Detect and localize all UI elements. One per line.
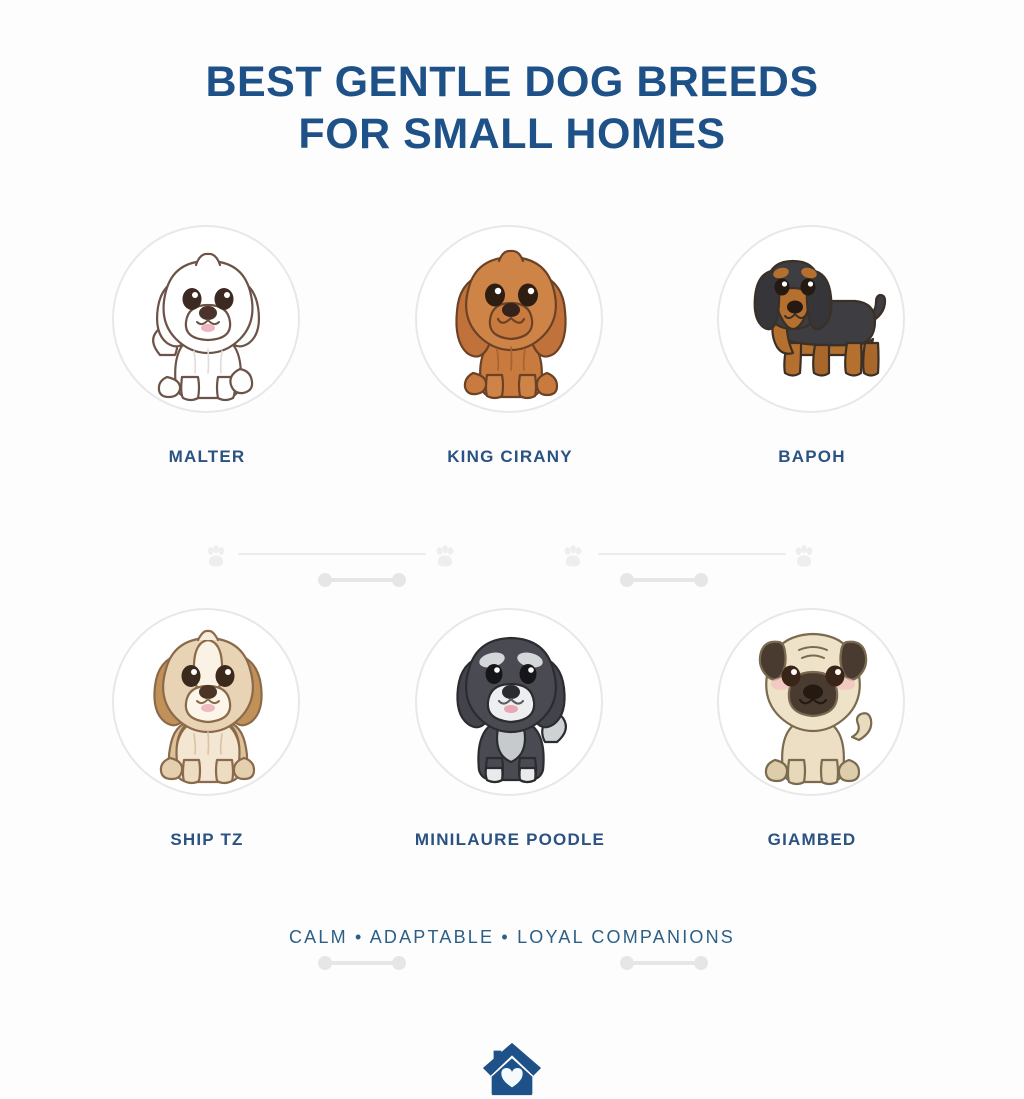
paw-print-icon <box>203 544 229 570</box>
breed-label: SHIP TZ <box>92 830 322 850</box>
title-line-2: FOR SMALL HOMES <box>0 108 1024 160</box>
pug-dog-portrait <box>719 610 905 796</box>
breed-avatar-circle <box>112 225 300 413</box>
dachshund-dog-portrait <box>719 227 905 413</box>
breed-label: MALTER <box>92 447 322 467</box>
breed-label: GIAMBED <box>697 830 927 850</box>
breed-row-1: MALTER <box>0 225 1024 485</box>
paw-print-icon <box>432 544 458 570</box>
house-heart-icon <box>481 1037 543 1099</box>
paw-print-icon <box>560 544 586 570</box>
breed-avatar-circle <box>415 225 603 413</box>
breed-row-2: SHIP TZ <box>0 608 1024 868</box>
shih-tzu-dog-portrait <box>114 610 300 796</box>
breed-card-miniature-poodle[interactable]: MINILAURE POODLE <box>395 608 625 868</box>
cavalier-king-charles-spaniel-portrait <box>417 227 603 413</box>
infographic-poster: BEST GENTLE DOG BREEDS FOR SMALL HOMES <box>0 0 1024 1024</box>
miniature-poodle-portrait <box>417 610 603 796</box>
breed-card-maltese[interactable]: MALTER <box>92 225 322 485</box>
connector-bar <box>630 961 698 965</box>
divider-line-left <box>238 553 426 555</box>
breed-connector <box>620 956 708 970</box>
breed-card-shih-tzu[interactable]: SHIP TZ <box>92 608 322 868</box>
breed-connector <box>318 956 406 970</box>
breed-avatar-circle <box>717 608 905 796</box>
breed-avatar-circle <box>415 608 603 796</box>
paw-print-icon <box>791 544 817 570</box>
divider-line-right <box>598 553 786 555</box>
breed-card-cavalier[interactable]: KING CIRANY <box>395 225 625 485</box>
connector-dot-right <box>694 956 708 970</box>
maltese-dog-portrait <box>114 227 300 413</box>
page-title: BEST GENTLE DOG BREEDS FOR SMALL HOMES <box>0 56 1024 160</box>
breed-label: BAPOH <box>697 447 927 467</box>
connector-bar <box>328 961 396 965</box>
section-divider <box>0 518 1024 590</box>
breed-label: KING CIRANY <box>395 447 625 467</box>
breed-card-dachshund[interactable]: BAPOH <box>697 225 927 485</box>
breed-label: MINILAURE POODLE <box>395 830 625 850</box>
breed-avatar-circle <box>717 225 905 413</box>
breed-card-pug[interactable]: GIAMBED <box>697 608 927 868</box>
connector-dot-right <box>392 956 406 970</box>
footer-tagline: CALM • ADAPTABLE • LOYAL COMPANIONS <box>0 927 1024 948</box>
title-line-1: BEST GENTLE DOG BREEDS <box>205 58 818 106</box>
breed-avatar-circle <box>112 608 300 796</box>
